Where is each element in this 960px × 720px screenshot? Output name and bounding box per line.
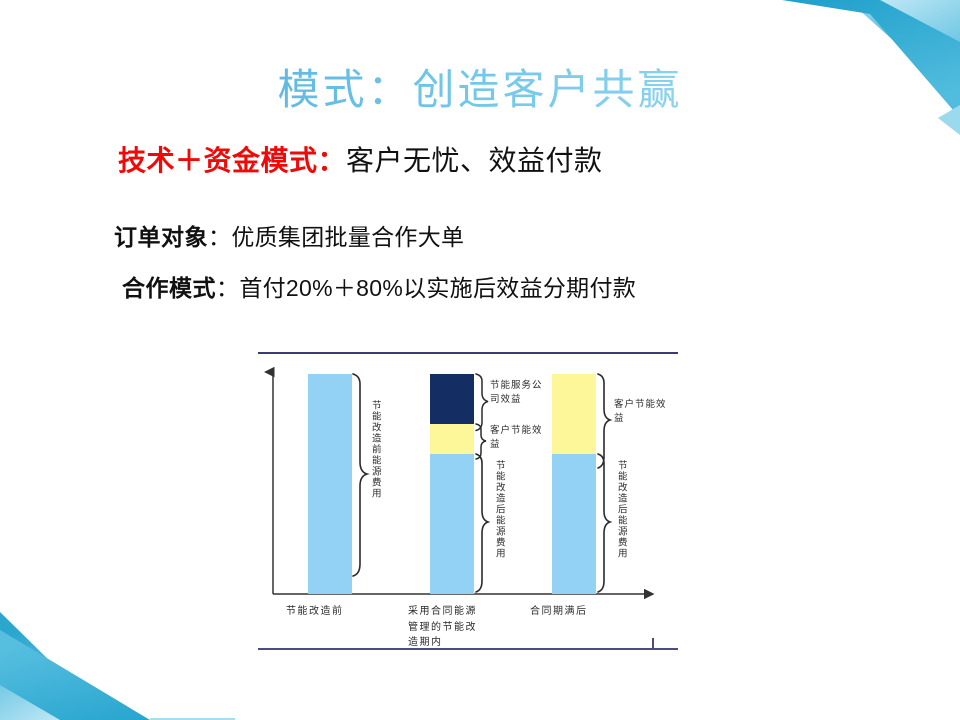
bullet-separator: ： bbox=[216, 275, 239, 301]
brace-col2-blue bbox=[476, 454, 488, 592]
page-title: 模式：创造客户共赢 bbox=[0, 56, 960, 117]
bar-segment-customer-saving-benefit-full[interactable] bbox=[552, 374, 596, 454]
x-axis-label-1: 节能改造前 bbox=[286, 604, 370, 620]
emc-stacked-bar-chart: 节能改造前能源费用 节能服务公司效益 客户节能效益 节能改造后能源费用 客户节能… bbox=[258, 348, 678, 658]
bar-segment-post-retrofit-energy-cost-after[interactable] bbox=[552, 454, 596, 594]
subtitle-row: 技术＋资金模式：客户无忧、效益付款 bbox=[118, 146, 603, 177]
bullet-label: 订单对象 bbox=[114, 224, 208, 250]
x-axis-label-3: 合同期满后 bbox=[530, 604, 614, 620]
bar-segment-pre-retrofit-energy-cost[interactable] bbox=[308, 374, 352, 594]
bar-column-3[interactable] bbox=[552, 374, 596, 594]
brace-col2-navy bbox=[476, 374, 488, 431]
annotation-customer-saving-benefit-after: 客户节能效益 bbox=[614, 398, 670, 427]
annotation-customer-saving-benefit: 客户节能效益 bbox=[490, 424, 546, 453]
bar-column-1[interactable] bbox=[308, 374, 352, 594]
bullet-line-cooperation-model: 合作模式：首付20%＋80%以实施后效益分期付款 bbox=[122, 276, 636, 301]
subtitle-value: 客户无忧、效益付款 bbox=[346, 145, 603, 176]
bullet-label: 合作模式 bbox=[122, 275, 216, 301]
annotation-post-retrofit-energy-cost: 节能改造后能源费用 bbox=[492, 460, 506, 559]
bullet-value: 首付20%＋80%以实施后效益分期付款 bbox=[239, 275, 636, 301]
bullet-line-order-target: 订单对象：优质集团批量合作大单 bbox=[114, 225, 464, 250]
decorative-corner-bottom-left bbox=[0, 590, 235, 720]
annotation-post-retrofit-energy-cost-after: 节能改造后能源费用 bbox=[614, 460, 628, 559]
annotation-pre-retrofit-energy-cost: 节能改造前能源费用 bbox=[368, 400, 382, 499]
bullet-value: 优质集团批量合作大单 bbox=[231, 224, 464, 250]
bar-segment-customer-saving-benefit[interactable] bbox=[430, 424, 474, 454]
slide-canvas: 模式：创造客户共赢 技术＋资金模式：客户无忧、效益付款 订单对象：优质集团批量合… bbox=[0, 0, 960, 720]
bar-column-2[interactable] bbox=[430, 374, 474, 594]
bullet-separator: ： bbox=[208, 224, 231, 250]
brace-col3-blue bbox=[598, 454, 610, 592]
brace-col1-blue bbox=[353, 374, 367, 576]
annotation-esco-benefit: 节能服务公司效益 bbox=[490, 379, 546, 408]
chart-plot-area: 节能改造前能源费用 节能服务公司效益 客户节能效益 节能改造后能源费用 客户节能… bbox=[258, 352, 678, 642]
x-axis-label-2: 采用合同能源管理的节能改造期内 bbox=[408, 604, 480, 651]
subtitle-label: 技术＋资金模式： bbox=[118, 145, 346, 176]
bar-segment-esco-benefit[interactable] bbox=[430, 374, 474, 424]
bar-segment-post-retrofit-energy-cost[interactable] bbox=[430, 454, 474, 594]
